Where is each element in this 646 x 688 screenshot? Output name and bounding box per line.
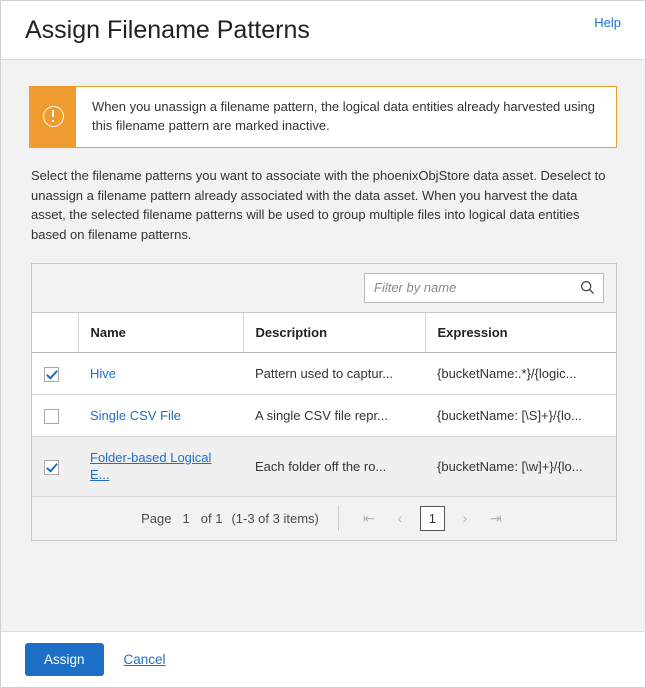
row-description-cell: Pattern used to captur... (243, 352, 425, 394)
next-page-icon[interactable]: › (454, 510, 476, 526)
table-row[interactable]: Hive Pattern used to captur... {bucketNa… (32, 352, 616, 394)
assign-filename-patterns-dialog: Assign Filename Patterns Help When you u… (0, 0, 646, 688)
column-header-name[interactable]: Name (78, 313, 243, 353)
warning-icon-cell (30, 87, 76, 147)
column-header-expression[interactable]: Expression (425, 313, 616, 353)
row-name-cell: Single CSV File (78, 395, 243, 437)
table-header-row: Name Description Expression (32, 313, 616, 353)
table-row[interactable]: Single CSV File A single CSV file repr..… (32, 395, 616, 437)
assign-button[interactable]: Assign (25, 643, 104, 676)
pagination-current-page[interactable]: 1 (420, 506, 445, 531)
row-expression-cell: {bucketName:.*}/{logic... (425, 352, 616, 394)
search-icon (580, 280, 595, 295)
page-title: Assign Filename Patterns (25, 16, 310, 45)
pagination-items-label: (1-3 of 3 items) (231, 511, 318, 526)
row-name-cell: Hive (78, 352, 243, 394)
row-select-cell[interactable] (32, 395, 78, 437)
row-expression-cell: {bucketName: [\S]+}/{lo... (425, 395, 616, 437)
pagination-divider (338, 505, 339, 531)
table-filter-bar (32, 264, 616, 313)
patterns-table-card: Name Description Expression Hive Pattern… (31, 263, 617, 541)
last-page-icon[interactable]: ⇥ (485, 510, 507, 527)
row-select-cell[interactable] (32, 437, 78, 496)
column-header-description[interactable]: Description (243, 313, 425, 353)
filename-patterns-table: Name Description Expression Hive Pattern… (32, 313, 616, 497)
table-pagination: Page 1 of 1 (1-3 of 3 items) ⇤ ‹ 1 › ⇥ (32, 497, 616, 540)
dialog-footer: Assign Cancel (1, 631, 645, 687)
filter-search-box[interactable] (364, 273, 604, 303)
previous-page-icon[interactable]: ‹ (389, 510, 411, 526)
row-description-cell: Each folder off the ro... (243, 437, 425, 496)
filter-search-input[interactable] (374, 280, 580, 295)
row-checkbox[interactable] (44, 409, 59, 424)
help-link[interactable]: Help (594, 15, 621, 46)
pattern-name-link[interactable]: Folder-based Logical E... (90, 450, 211, 482)
row-checkbox[interactable] (44, 460, 59, 475)
row-checkbox[interactable] (44, 367, 59, 382)
instructions-text: Select the filename patterns you want to… (31, 166, 611, 245)
row-description-cell: A single CSV file repr... (243, 395, 425, 437)
warning-text: When you unassign a filename pattern, th… (76, 87, 616, 147)
dialog-header: Assign Filename Patterns Help (1, 1, 645, 60)
row-select-cell[interactable] (32, 352, 78, 394)
column-header-select (32, 313, 78, 353)
first-page-icon[interactable]: ⇤ (358, 510, 380, 527)
pattern-name-link[interactable]: Single CSV File (90, 408, 181, 423)
row-name-cell: Folder-based Logical E... (78, 437, 243, 496)
exclamation-circle-icon (43, 106, 64, 127)
warning-banner: When you unassign a filename pattern, th… (29, 86, 617, 148)
pattern-name-link[interactable]: Hive (90, 366, 116, 381)
pagination-of-label: of 1 (201, 511, 223, 526)
dialog-body: When you unassign a filename pattern, th… (1, 60, 645, 631)
row-expression-cell: {bucketName: [\w]+}/{lo... (425, 437, 616, 496)
pagination-page-label: Page (141, 511, 171, 526)
table-row[interactable]: Folder-based Logical E... Each folder of… (32, 437, 616, 496)
cancel-link[interactable]: Cancel (124, 652, 166, 667)
pagination-page-number: 1 (181, 511, 192, 526)
